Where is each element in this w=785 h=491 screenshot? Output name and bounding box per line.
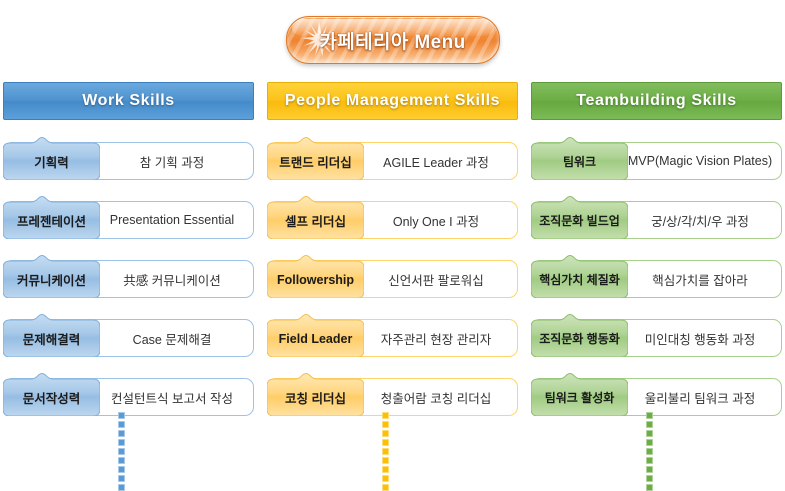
skill-row[interactable]: 컨설턴트식 보고서 작성 문서작성력 — [3, 372, 254, 416]
tail-dot — [382, 430, 389, 437]
title-text: 카페테리아 Menu — [319, 27, 465, 54]
tail-dot — [118, 457, 125, 464]
skill-row[interactable]: MVP(Magic Vision Plates) — [531, 136, 782, 180]
row-list-people-management-skills: AGILE Leader 과정 — [267, 136, 518, 416]
skill-row[interactable]: Case 문제해결 문제해결력 — [3, 313, 254, 357]
tail-dot — [646, 430, 653, 437]
skills-board: Work Skills 참 기획 과정 — [0, 82, 785, 490]
skill-tag[interactable]: 팀워크 — [531, 136, 628, 180]
skill-tag-label: 문제해결력 — [3, 320, 100, 357]
skill-tag-label: 코칭 리더십 — [267, 379, 364, 416]
course-name: 청출어람 코칭 리더십 — [357, 388, 517, 407]
skill-tag[interactable]: 문서작성력 — [3, 372, 100, 416]
column-tail-dots — [118, 412, 125, 488]
tail-dot — [646, 421, 653, 428]
tail-dot — [646, 439, 653, 446]
skill-tag-label: 팀워크 활성화 — [531, 379, 628, 416]
course-name: 울리불리 팀워크 과정 — [621, 388, 781, 407]
skill-tag[interactable]: 커뮤니케이션 — [3, 254, 100, 298]
column-header-teambuilding-skills[interactable]: Teambuilding Skills — [531, 82, 782, 120]
tail-dot — [382, 421, 389, 428]
tail-dot — [382, 466, 389, 473]
skill-tag[interactable]: Followership — [267, 254, 364, 298]
skill-tag[interactable]: 문제해결력 — [3, 313, 100, 357]
skill-tag[interactable]: 셀프 리더십 — [267, 195, 364, 239]
tail-dot — [118, 466, 125, 473]
title-pill[interactable]: 카페테리아 Menu — [286, 16, 500, 64]
column-tail-dots — [646, 412, 653, 488]
skill-tag-label: 핵심가치 체질화 — [531, 261, 628, 298]
skill-tag-label: Field Leader — [267, 320, 364, 357]
row-list-work-skills: 참 기획 과정 기획력 — [3, 136, 254, 416]
tail-dot — [382, 448, 389, 455]
skill-tag-label: 문서작성력 — [3, 379, 100, 416]
tail-dot — [118, 439, 125, 446]
skill-row[interactable]: Only One I 과정 셀프 리더십 — [267, 195, 518, 239]
skill-row[interactable]: 핵심가치를 잡아라 핵심가치 체질화 — [531, 254, 782, 298]
tail-dot — [382, 412, 389, 419]
course-name: MVP(Magic Vision Plates) — [621, 154, 781, 168]
skill-row[interactable]: Presentation Essential 프레젠테이션 — [3, 195, 254, 239]
tail-dot — [646, 475, 653, 482]
skill-tag[interactable]: 트랜드 리더십 — [267, 136, 364, 180]
column-header-people-management-skills[interactable]: People Management Skills — [267, 82, 518, 120]
skill-row[interactable]: 共感 커뮤니케이션 커뮤니케이션 — [3, 254, 254, 298]
column-header-work-skills[interactable]: Work Skills — [3, 82, 254, 120]
skill-tag[interactable]: 팀워크 활성화 — [531, 372, 628, 416]
skill-tag-label: 조직문화 행동화 — [531, 320, 628, 357]
tail-dot — [118, 448, 125, 455]
skill-row[interactable]: AGILE Leader 과정 — [267, 136, 518, 180]
skill-row[interactable]: 신언서판 팔로워십 Followership — [267, 254, 518, 298]
column-tail-dots — [382, 412, 389, 488]
skill-tag[interactable]: 코칭 리더십 — [267, 372, 364, 416]
skill-tag-label: 프레젠테이션 — [3, 202, 100, 239]
skill-tag-label: 트랜드 리더십 — [267, 143, 364, 180]
course-name: 共感 커뮤니케이션 — [93, 270, 253, 289]
skill-tag-label: 셀프 리더십 — [267, 202, 364, 239]
tail-dot — [382, 439, 389, 446]
skill-tag[interactable]: 핵심가치 체질화 — [531, 254, 628, 298]
skill-tag[interactable]: 조직문화 행동화 — [531, 313, 628, 357]
tail-dot — [118, 430, 125, 437]
title-banner: 카페테리아 Menu — [0, 14, 785, 66]
tail-dot — [646, 466, 653, 473]
column-teambuilding-skills: Teambuilding Skills MVP(Magic Vision Pla… — [531, 82, 782, 431]
skill-tag-label: Followership — [267, 261, 364, 298]
skill-tag-label: 커뮤니케이션 — [3, 261, 100, 298]
tail-dot — [118, 421, 125, 428]
row-list-teambuilding-skills: MVP(Magic Vision Plates) — [531, 136, 782, 416]
course-name: Case 문제해결 — [93, 329, 253, 348]
skill-tag[interactable]: 프레젠테이션 — [3, 195, 100, 239]
tail-dot — [118, 475, 125, 482]
column-work-skills: Work Skills 참 기획 과정 — [3, 82, 254, 431]
skill-row[interactable]: 청출어람 코칭 리더십 코칭 리더십 — [267, 372, 518, 416]
skill-tag[interactable]: 조직문화 빌드업 — [531, 195, 628, 239]
course-name: 자주관리 현장 관리자 — [357, 329, 517, 348]
skill-row[interactable]: 울리불리 팀워크 과정 팀워크 활성화 — [531, 372, 782, 416]
course-name: 궁/상/각/치/우 과정 — [621, 211, 781, 230]
skill-row[interactable]: 미인대칭 행동화 과정 조직문화 행동화 — [531, 313, 782, 357]
course-name: 미인대칭 행동화 과정 — [621, 329, 781, 348]
tail-dot — [646, 457, 653, 464]
skill-row[interactable]: 참 기획 과정 기획력 — [3, 136, 254, 180]
skill-tag[interactable]: 기획력 — [3, 136, 100, 180]
tail-dot — [646, 412, 653, 419]
skill-row[interactable]: 자주관리 현장 관리자 Field Leader — [267, 313, 518, 357]
skill-tag-label: 기획력 — [3, 143, 100, 180]
course-name: 컨설턴트식 보고서 작성 — [93, 388, 253, 407]
course-name: 신언서판 팔로워십 — [357, 270, 517, 289]
course-name: 참 기획 과정 — [93, 152, 253, 171]
course-name: 핵심가치를 잡아라 — [621, 270, 781, 289]
skill-tag[interactable]: Field Leader — [267, 313, 364, 357]
course-name: AGILE Leader 과정 — [357, 152, 517, 171]
tail-dot — [382, 457, 389, 464]
skill-tag-label: 조직문화 빌드업 — [531, 202, 628, 239]
tail-dot — [382, 475, 389, 482]
skill-row[interactable]: 궁/상/각/치/우 과정 조직문화 빌드업 — [531, 195, 782, 239]
column-people-management-skills: People Management Skills AGILE Leader 과정 — [267, 82, 518, 431]
course-name: Presentation Essential — [93, 213, 253, 227]
skill-tag-label: 팀워크 — [531, 143, 628, 180]
tail-dot — [118, 412, 125, 419]
course-name: Only One I 과정 — [357, 211, 517, 230]
tail-dot — [646, 448, 653, 455]
